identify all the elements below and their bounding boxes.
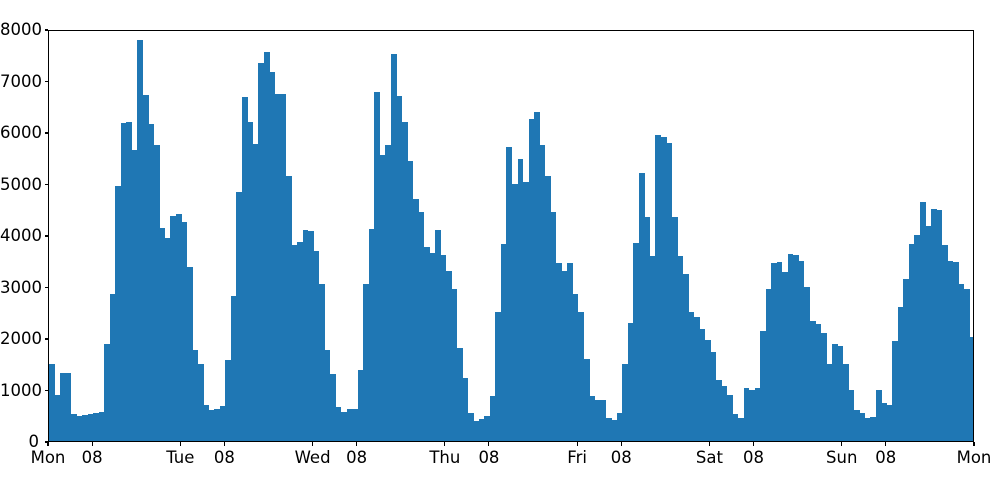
x-tick-label: 08 (875, 450, 896, 467)
x-tick-mark (885, 442, 886, 446)
x-tick-label: 08 (478, 450, 499, 467)
plot-axes (48, 30, 974, 442)
y-tick-label: 1000 (0, 383, 39, 400)
x-tick-mark (312, 442, 313, 446)
x-tick-mark (577, 442, 578, 446)
y-tick-label: 7000 (0, 74, 39, 91)
x-tick-label: Tue (166, 450, 194, 467)
x-tick-label: 08 (346, 450, 367, 467)
x-tick-label: Mon (31, 450, 66, 467)
x-tick-label: Wed (295, 450, 331, 467)
x-tick-mark (92, 442, 93, 446)
x-tick-mark (224, 442, 225, 446)
y-tick-label: 4000 (0, 228, 39, 245)
y-tick-label: 8000 (0, 22, 39, 39)
x-tick-label: 08 (82, 450, 103, 467)
x-tick-mark (444, 442, 445, 446)
y-tick-label: 6000 (0, 125, 39, 142)
x-tick-label: Fri (567, 450, 587, 467)
x-tick-label: 08 (743, 450, 764, 467)
x-tick-mark (973, 442, 974, 446)
y-tick-label: 2000 (0, 331, 39, 348)
x-tick-label: Thu (429, 450, 460, 467)
x-tick-mark (621, 442, 622, 446)
x-tick-mark (356, 442, 357, 446)
x-tick-label: 08 (611, 450, 632, 467)
x-tick-label: 08 (214, 450, 235, 467)
bar-series (49, 31, 973, 441)
x-tick-mark (488, 442, 489, 446)
x-tick-mark (841, 442, 842, 446)
y-tick-label: 3000 (0, 280, 39, 297)
matplotlib-figure: 010002000300040005000600070008000 Mon08T… (0, 0, 1000, 480)
x-tick-label: Mon (957, 450, 992, 467)
x-tick-mark (709, 442, 710, 446)
x-tick-label: Sat (696, 450, 723, 467)
x-tick-mark (47, 442, 48, 446)
y-tick-label: 5000 (0, 177, 39, 194)
plot-area (49, 31, 973, 441)
x-tick-mark (753, 442, 754, 446)
x-tick-mark (180, 442, 181, 446)
bar (969, 337, 973, 441)
x-tick-label: Sun (826, 450, 857, 467)
